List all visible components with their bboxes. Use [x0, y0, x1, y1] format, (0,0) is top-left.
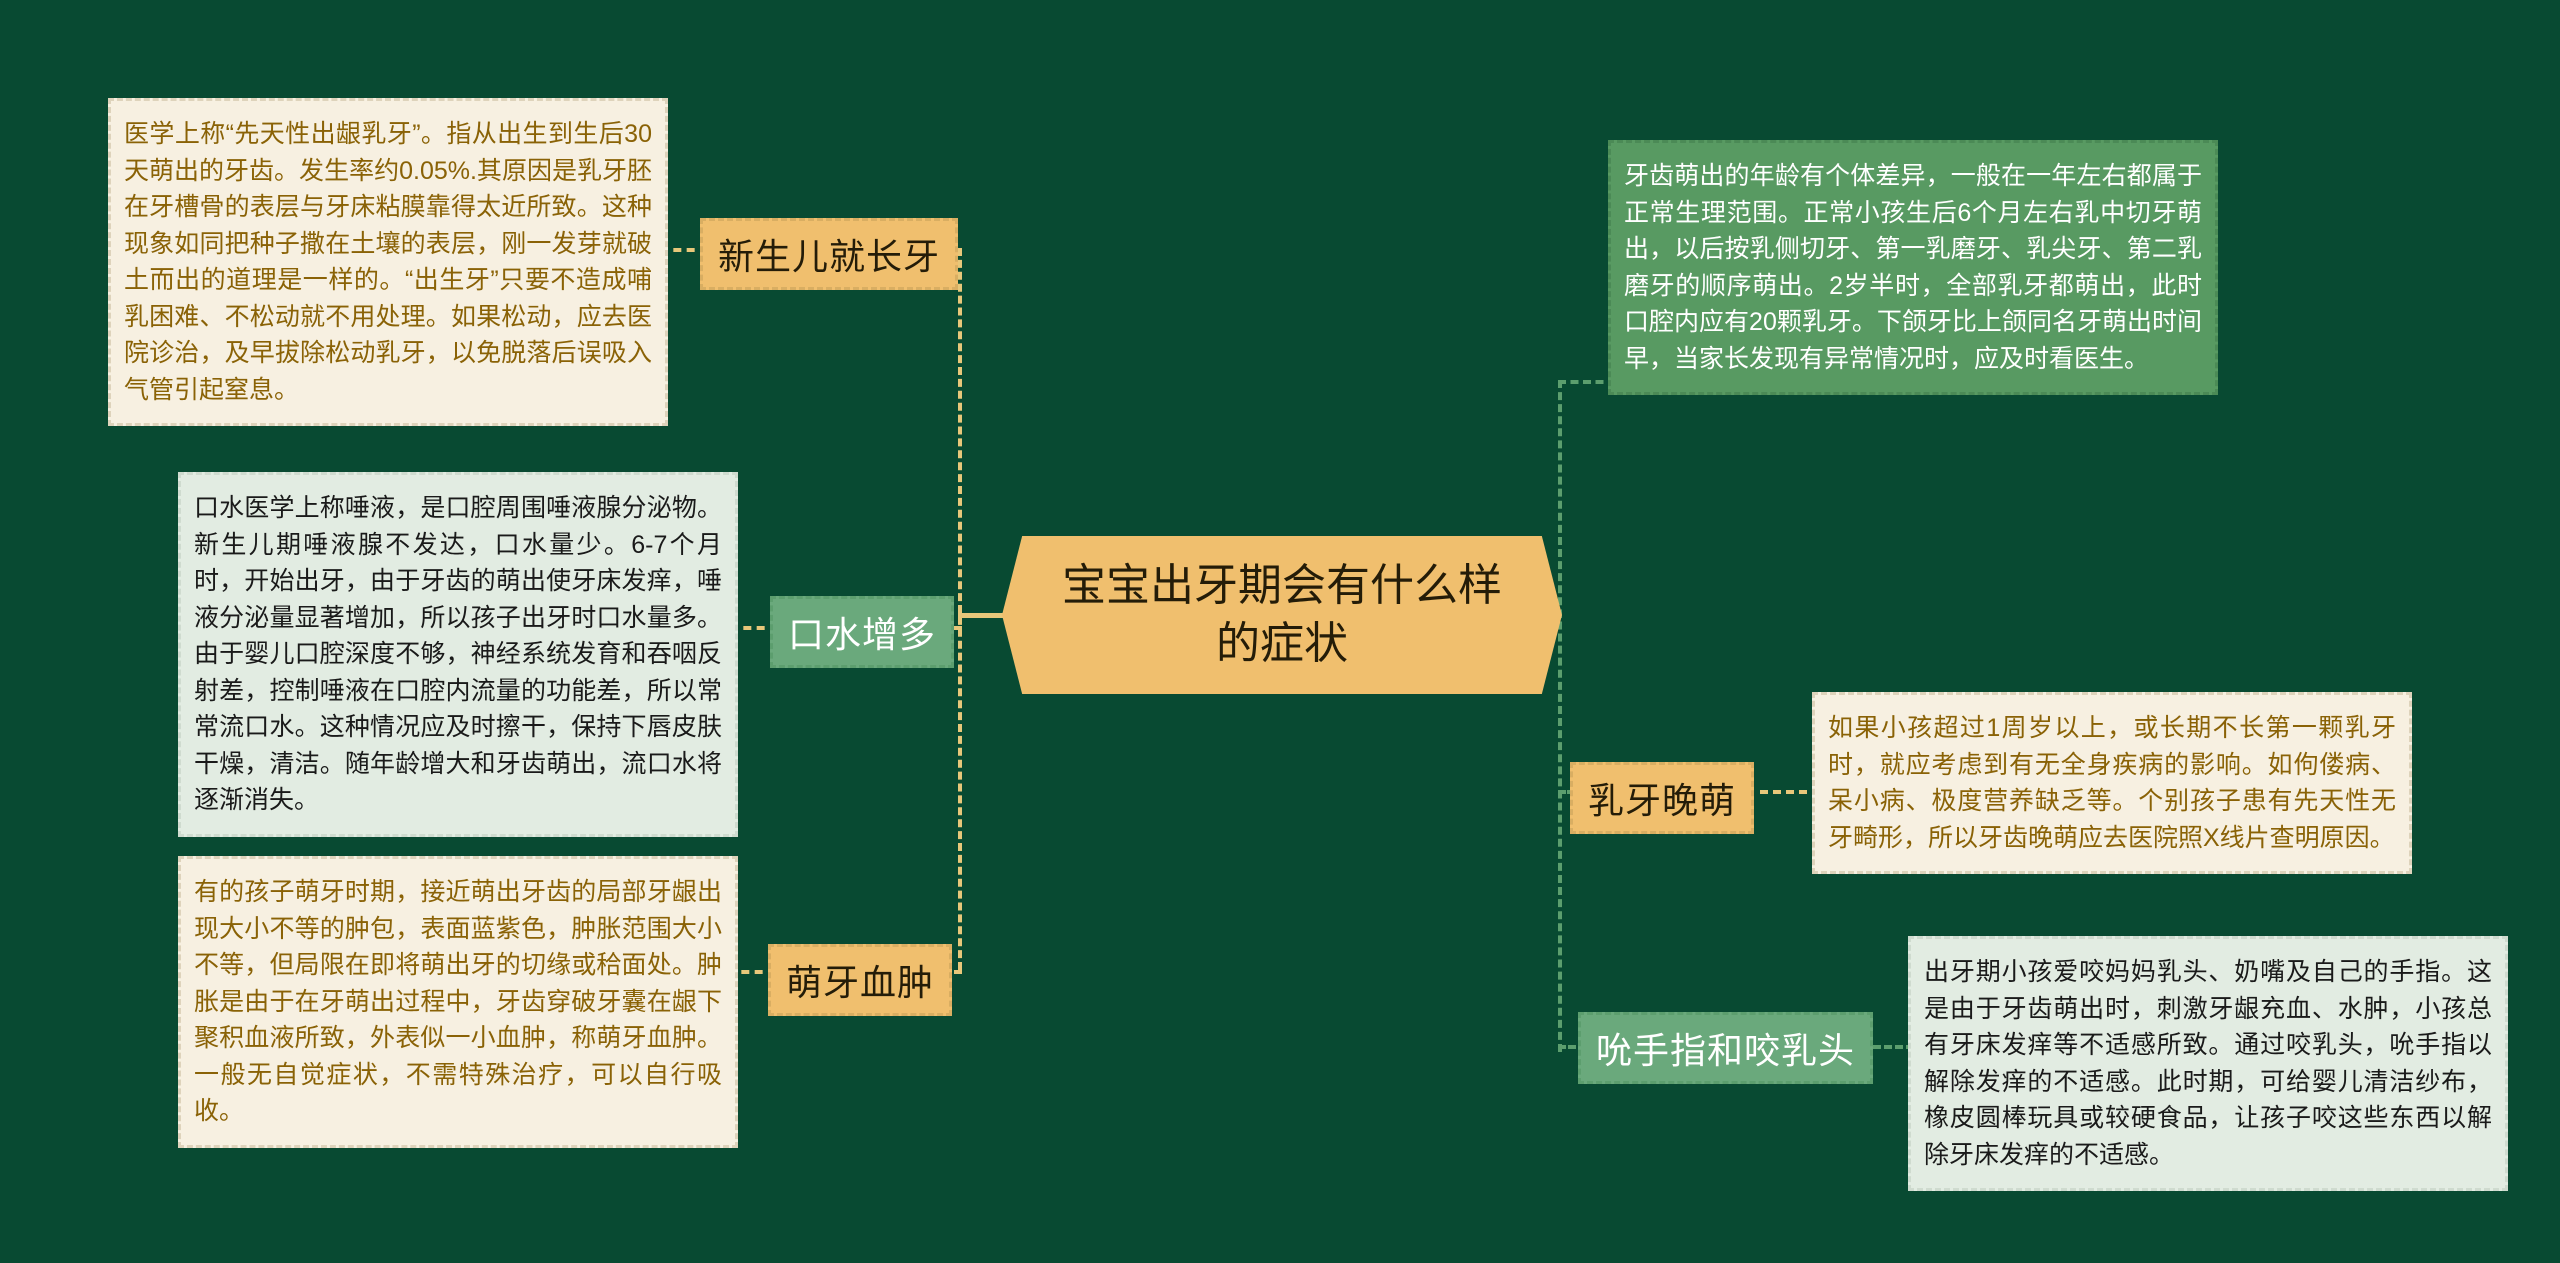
branch-label-late-eruption[interactable]: 乳牙晚萌 [1570, 762, 1754, 834]
connector-right-note-2 [1760, 790, 1820, 794]
center-node-title: 宝宝出牙期会有什么样的症状 [1048, 557, 1516, 673]
connector-right-spine [1558, 380, 1562, 1052]
branch-label-finger-sucking[interactable]: 吮手指和咬乳头 [1578, 1012, 1873, 1084]
branch-label-eruption-hematoma[interactable]: 萌牙血肿 [768, 944, 952, 1016]
note-saliva-increase: 口水医学上称唾液，是口腔周围唾液腺分泌物。新生儿期唾液腺不发达，口水量少。6-7… [178, 472, 738, 837]
note-eruption-age: 牙齿萌出的年龄有个体差异，一般在一年左右都属于正常生理范围。正常小孩生后6个月左… [1608, 140, 2218, 395]
connector-left-spine [958, 248, 962, 970]
note-late-eruption: 如果小孩超过1周岁以上，或长期不长第一颗乳牙时，就应考虑到有无全身疾病的影响。如… [1812, 692, 2412, 874]
note-eruption-hematoma: 有的孩子萌牙时期，接近萌出牙齿的局部牙龈出现大小不等的肿包，表面蓝紫色，肿胀范围… [178, 856, 738, 1148]
mindmap-canvas: 医学上称“先天性出龈乳牙”。指从出生到生后30天萌出的牙齿。发生率约0.05%.… [0, 0, 2560, 1263]
center-node[interactable]: 宝宝出牙期会有什么样的症状 [1002, 536, 1562, 694]
connector-left-spine-to-center [958, 613, 1008, 618]
note-newborn-teeth: 医学上称“先天性出龈乳牙”。指从出生到生后30天萌出的牙齿。发生率约0.05%.… [108, 98, 668, 426]
branch-label-newborn-teeth[interactable]: 新生儿就长牙 [700, 218, 958, 290]
branch-label-saliva-increase[interactable]: 口水增多 [770, 596, 954, 668]
note-finger-sucking: 出牙期小孩爱咬妈妈乳头、奶嘴及自己的手指。这是由于牙齿萌出时，刺激牙龈充血、水肿… [1908, 936, 2508, 1191]
